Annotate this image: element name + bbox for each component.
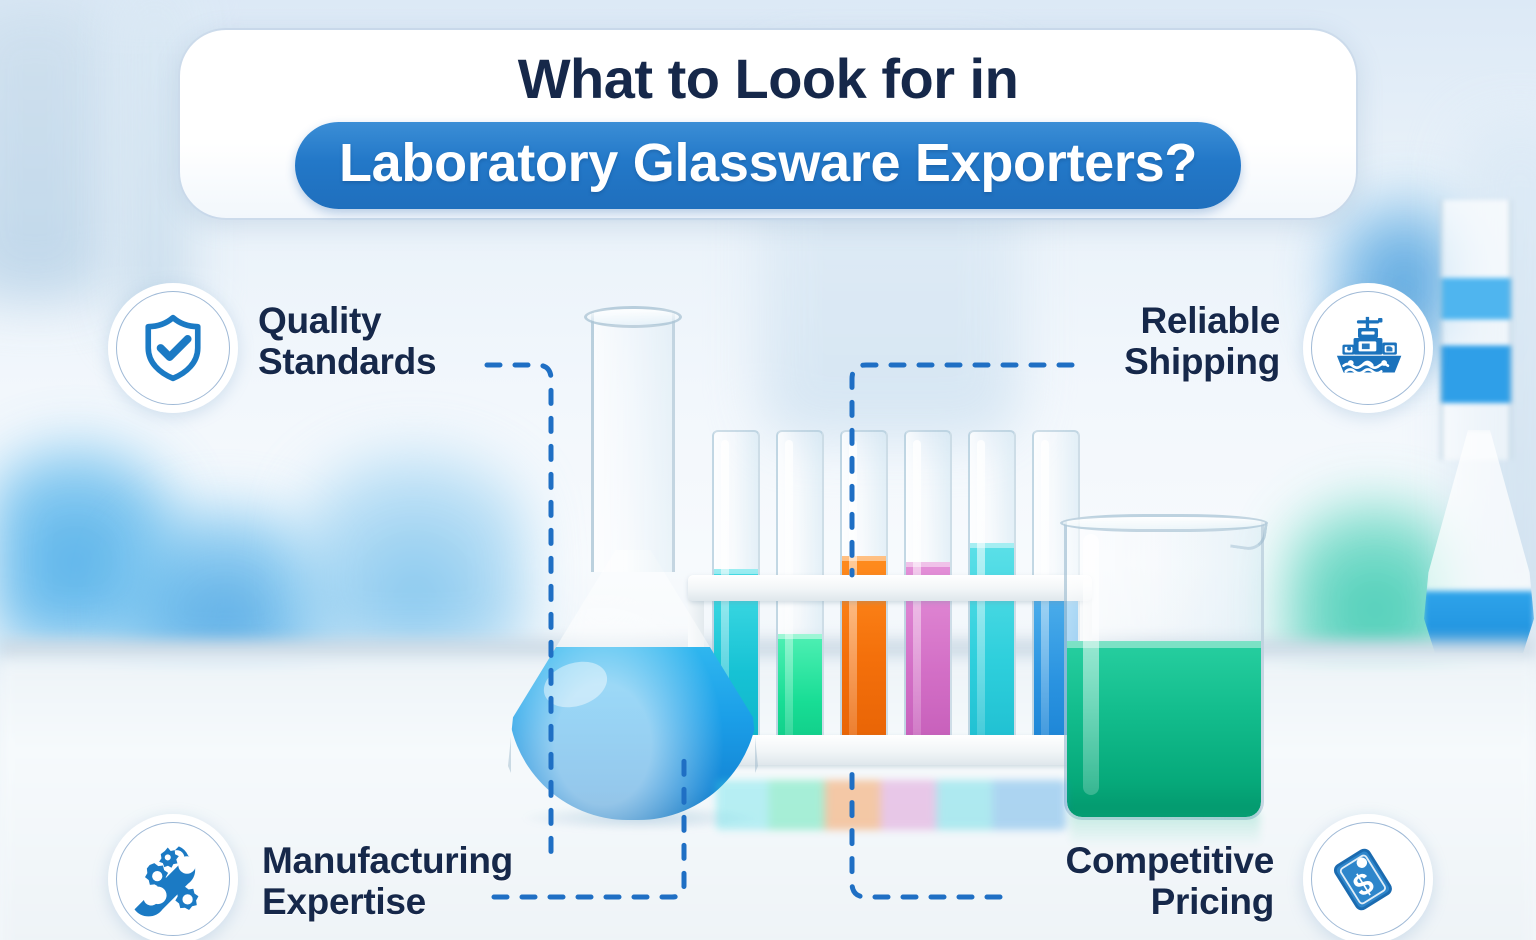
title-card: What to Look for in Laboratory Glassware… bbox=[178, 28, 1358, 220]
cargo-ship-icon bbox=[1328, 308, 1408, 388]
title-highlight-pill: Laboratory Glassware Exporters? bbox=[295, 122, 1241, 209]
feature-label-line2: Pricing bbox=[1014, 881, 1274, 922]
feature-label-line2: Standards bbox=[258, 341, 436, 382]
badge-competitive-pricing[interactable]: $ bbox=[1303, 814, 1433, 940]
feature-label-quality-standards: Quality Standards bbox=[258, 300, 436, 383]
beaker-rim bbox=[1060, 514, 1268, 532]
badge-quality-standards[interactable] bbox=[108, 283, 238, 413]
shield-check-icon bbox=[137, 312, 209, 384]
feature-label-line1: Reliable bbox=[1090, 300, 1280, 341]
erlenmeyer-flask bbox=[498, 300, 768, 830]
page-title-line1: What to Look for in bbox=[518, 48, 1019, 110]
page-title-line2: Laboratory Glassware Exporters? bbox=[339, 134, 1197, 193]
feature-label-line1: Competitive bbox=[1014, 840, 1274, 881]
beaker bbox=[1064, 520, 1264, 820]
price-tag-dollar-icon: $ bbox=[1327, 838, 1409, 920]
reflection-tubes bbox=[716, 780, 1066, 830]
feature-label-line2: Expertise bbox=[262, 881, 513, 922]
feature-label-reliable-shipping: Reliable Shipping bbox=[1090, 300, 1280, 383]
feature-label-manufacturing-expertise: Manufacturing Expertise bbox=[262, 840, 513, 923]
feature-label-line1: Manufacturing bbox=[262, 840, 513, 881]
feature-label-line2: Shipping bbox=[1090, 341, 1280, 382]
feature-label-line1: Quality bbox=[258, 300, 436, 341]
feature-label-competitive-pricing: Competitive Pricing bbox=[1014, 840, 1274, 923]
wrench-gears-icon bbox=[131, 837, 215, 921]
badge-reliable-shipping[interactable] bbox=[1303, 283, 1433, 413]
badge-manufacturing-expertise[interactable] bbox=[108, 814, 238, 940]
